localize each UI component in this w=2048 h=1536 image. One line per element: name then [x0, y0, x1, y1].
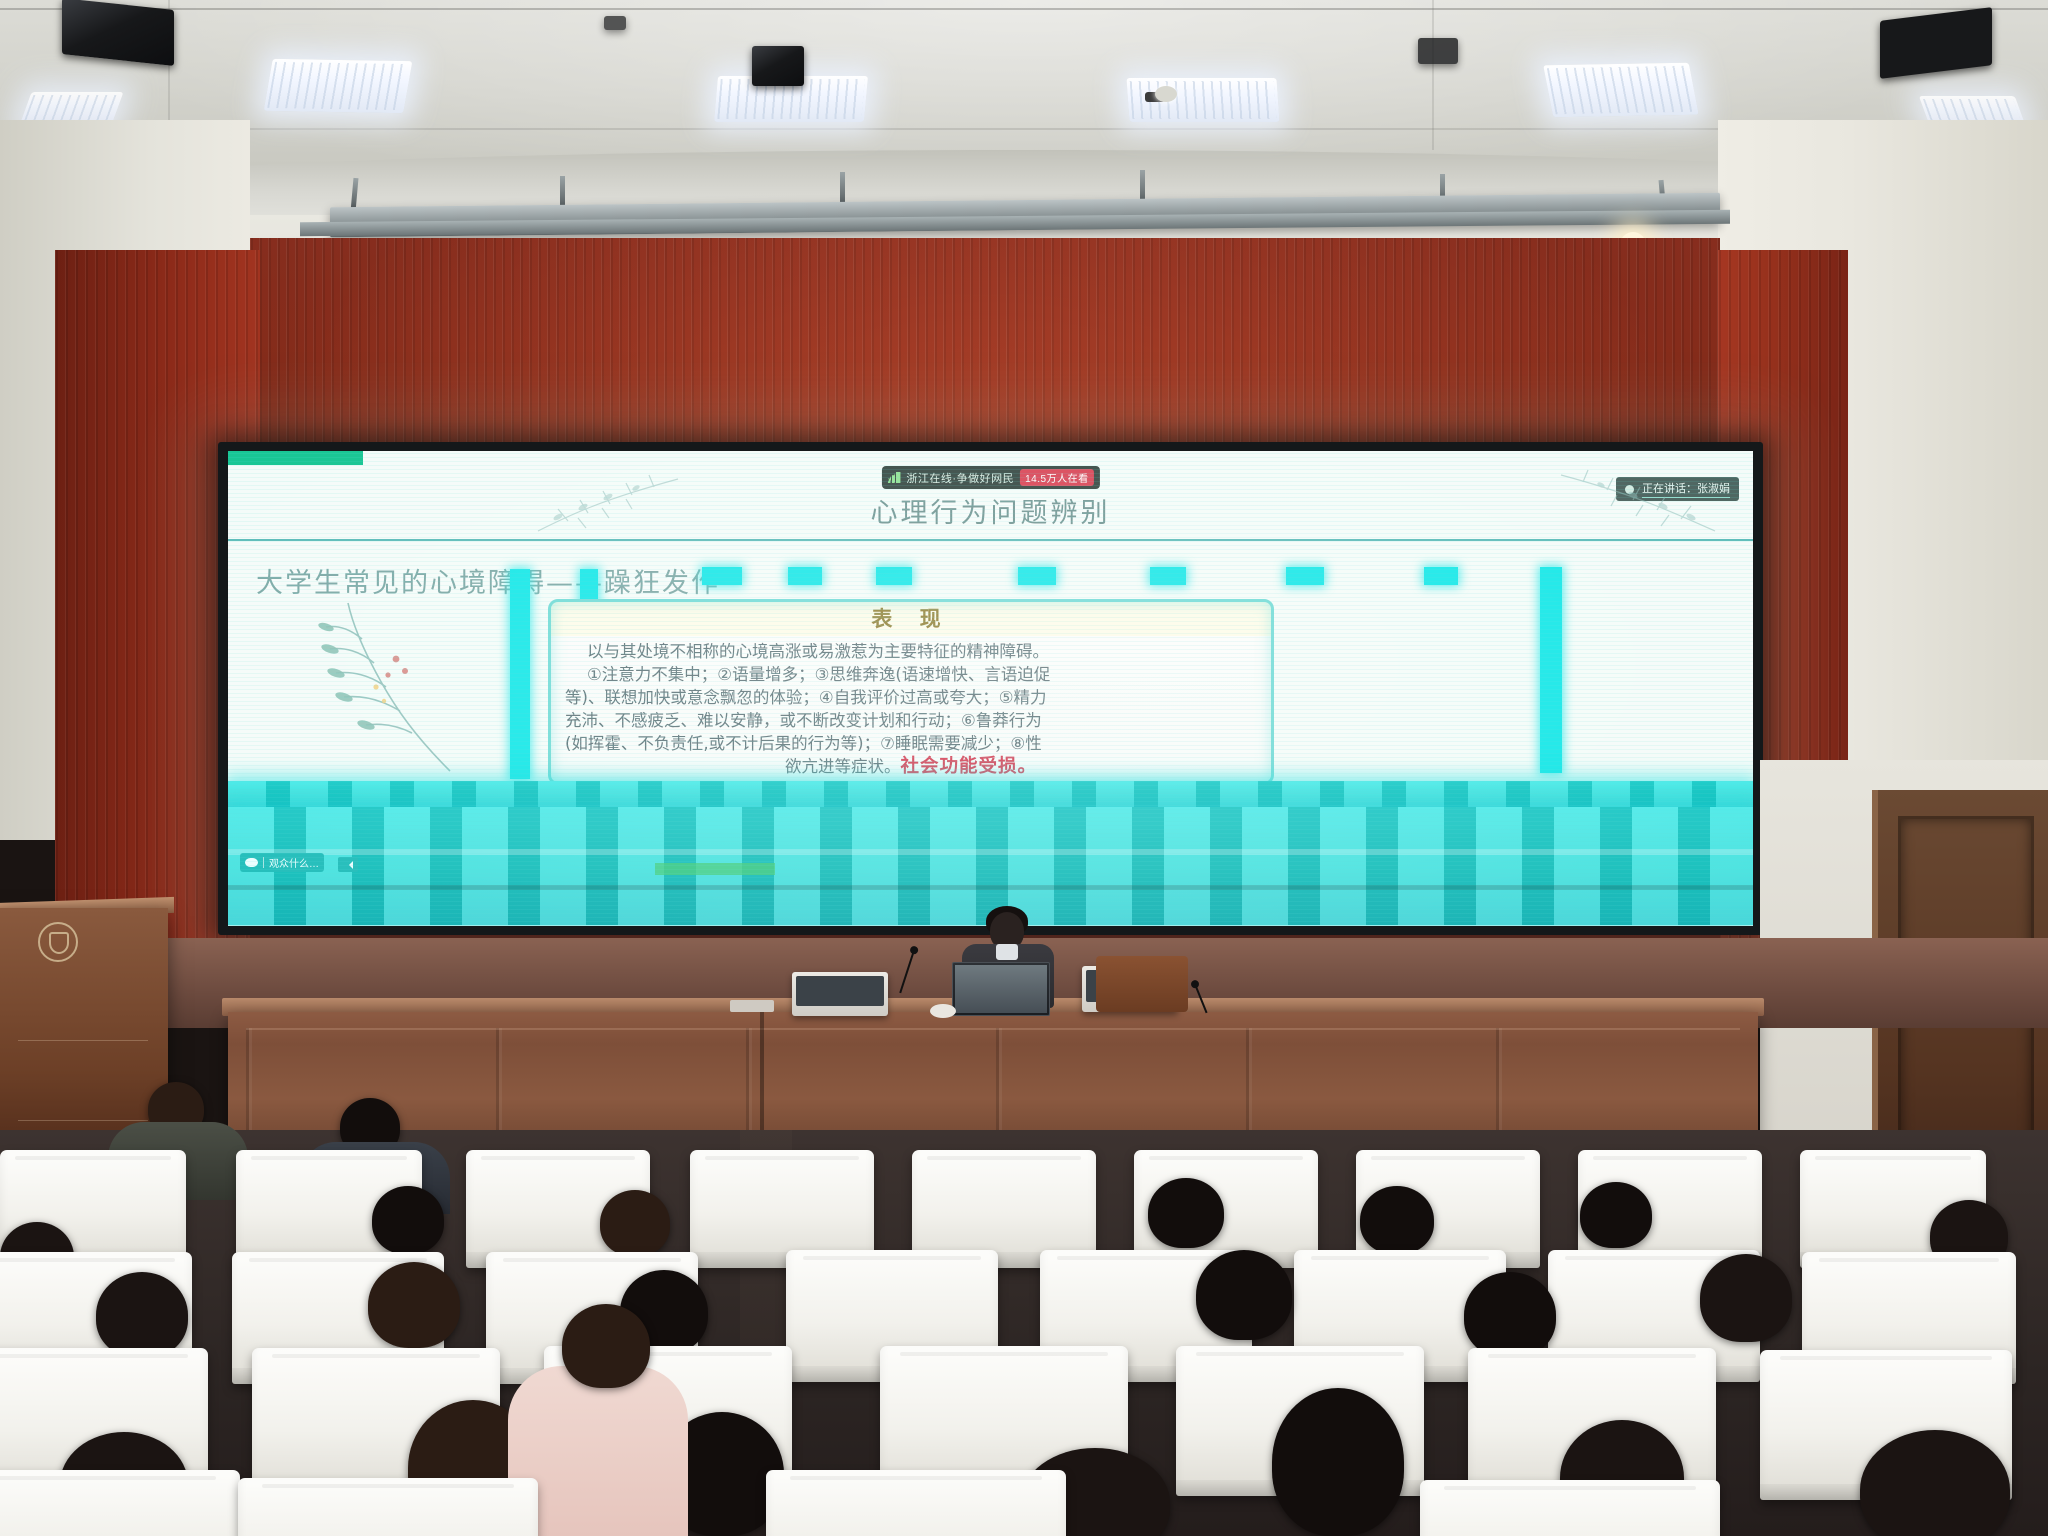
slide-accent-bar — [228, 451, 363, 465]
led-artifact-bar — [1540, 567, 1562, 773]
lecture-hall-photo: 浙江在线·争做好网民 14.5万人在看 正在讲话：张淑娟 — [0, 0, 2048, 1536]
ceiling-projector — [752, 46, 804, 86]
led-artifact-green — [655, 863, 775, 875]
card-line: ①注意力不集中；②语量增多；③思维奔逸(语速增快、言语迫促 — [565, 663, 1257, 686]
card-line: 等)、联想加快或意念飘忽的体验；④自我评价过高或夸大；⑤精力 — [565, 686, 1257, 709]
card-line: 以与其处境不相称的心境高涨或易激惹为主要特征的精神障碍。 — [565, 640, 1257, 663]
led-display-screen[interactable]: 浙江在线·争做好网民 14.5万人在看 正在讲话：张淑娟 — [228, 451, 1753, 926]
audience-head — [1360, 1186, 1434, 1254]
led-artifact-band — [228, 807, 1753, 925]
audience-head — [1272, 1388, 1404, 1536]
ceiling-light-panel — [1543, 63, 1699, 118]
ceiling-sensor — [1418, 38, 1458, 64]
led-artifact-band — [228, 781, 1753, 807]
audience-head — [368, 1262, 460, 1348]
lectern-trim — [18, 1120, 148, 1121]
chair — [0, 1470, 240, 1536]
card-header: 表 现 — [551, 602, 1271, 636]
card-line: 充沛、不感疲乏、难以安静，或不断改变计划和行动；⑥鲁莽行为 — [565, 709, 1257, 732]
led-artifact-blocks — [228, 807, 1753, 925]
audience-head — [1148, 1178, 1224, 1248]
audience-head — [1580, 1182, 1652, 1248]
audience-head — [1464, 1272, 1556, 1358]
led-artifact-bar — [1286, 567, 1324, 585]
ceiling-seam — [0, 8, 2048, 10]
chair — [238, 1478, 538, 1536]
slide-tool-chip[interactable]: 观众什么… — [240, 853, 324, 872]
led-display-frame: 浙江在线·争做好网民 14.5万人在看 正在讲话：张淑娟 — [218, 442, 1763, 935]
ceiling-smoke-detector — [1155, 86, 1177, 102]
play-next-icon[interactable] — [338, 857, 358, 872]
led-artifact-bar — [1424, 567, 1458, 585]
audience-head — [96, 1272, 188, 1358]
led-artifact-bar — [510, 569, 530, 779]
chair — [1420, 1480, 1720, 1536]
ceiling-light-panel — [264, 59, 413, 113]
desk-paper — [730, 1000, 774, 1012]
presenter-chair — [1096, 956, 1188, 1012]
chair — [766, 1470, 1066, 1536]
led-artifact-bar — [1018, 567, 1056, 585]
led-artifact-bar — [876, 567, 912, 585]
led-artifact-bar — [788, 567, 822, 585]
eye-icon — [245, 858, 258, 867]
live-status-bar: 浙江在线·争做好网民 14.5万人在看 — [881, 466, 1099, 489]
presenter-laptop — [952, 962, 1050, 1016]
slide-chip-label: 观众什么… — [269, 855, 319, 870]
presenter-collar — [996, 944, 1018, 960]
school-crest-icon — [38, 922, 78, 962]
laptop-screen — [955, 965, 1047, 1013]
plant-decoration-icon — [300, 591, 480, 781]
led-artifact-line — [228, 849, 1753, 855]
led-artifact-bar — [702, 567, 742, 585]
desk-cup — [930, 1004, 956, 1018]
live-channel-label: 浙江在线·争做好网民 — [906, 470, 1014, 486]
audience-head — [562, 1304, 650, 1388]
audience-head — [600, 1190, 670, 1256]
led-artifact-blocks — [228, 781, 1753, 807]
slide-divider-line — [228, 539, 1753, 541]
audience-head — [1700, 1254, 1792, 1342]
table-panels — [246, 1028, 1740, 1141]
ceiling-fixture — [604, 16, 626, 30]
page-title: 心理行为问题辨别 — [228, 491, 1753, 530]
content-card: 表 现 以与其处境不相称的心境高涨或易激惹为主要特征的精神障碍。 ①注意力不集中… — [548, 599, 1274, 785]
card-body: 以与其处境不相称的心境高涨或易激惹为主要特征的精神障碍。 ①注意力不集中；②语量… — [565, 640, 1257, 778]
card-line: (如挥霍、不负责任,或不计后果的行为等)；⑦睡眠需要减少；⑧性 — [565, 732, 1257, 755]
audience-head — [372, 1186, 444, 1254]
lectern — [0, 908, 168, 1138]
signal-bars-icon — [887, 472, 900, 483]
led-artifact-line — [228, 885, 1753, 890]
live-viewer-badge: 14.5万人在看 — [1020, 469, 1093, 486]
audience-head — [1196, 1250, 1292, 1340]
led-artifact-bar — [1150, 567, 1186, 585]
lectern-trim — [18, 1040, 148, 1041]
card-emphasis: 社会功能受损。 — [900, 756, 1037, 777]
ceiling-seam — [1432, 0, 1434, 150]
slide-subtitle: 大学生常见的心境障碍——躁狂发作 — [256, 561, 720, 600]
card-line: 欲亢进等症状。 — [785, 757, 901, 776]
chip-separator — [263, 857, 264, 868]
